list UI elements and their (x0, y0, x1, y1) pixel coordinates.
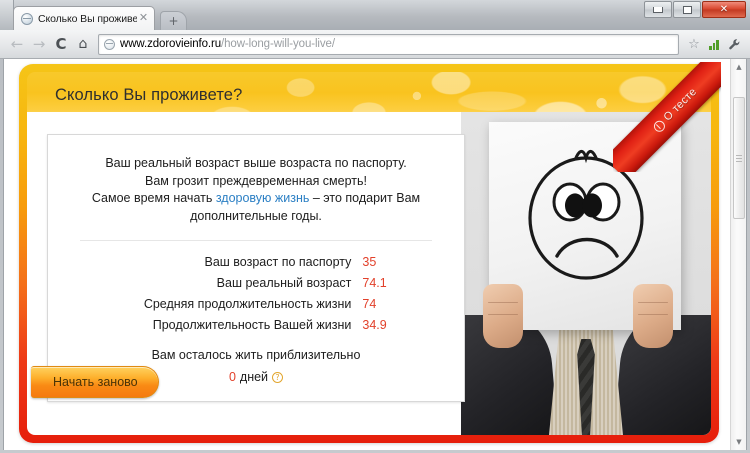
browser-toolbar: ← → C ⌂ www.zdorovieinfo.ru/how-long-wil… (0, 30, 750, 59)
right-hand (633, 284, 673, 348)
restart-button[interactable]: Начать заново (31, 366, 159, 398)
web-page: Сколько Вы проживете? (4, 59, 732, 450)
remaining-unit: дней (240, 370, 268, 384)
url-path: /how-long-will-you-live/ (221, 38, 335, 50)
maximize-button[interactable] (673, 1, 701, 18)
bookmark-star-button[interactable]: ☆ (684, 33, 704, 55)
browser-tab[interactable]: Сколько Вы проживете? ✕ (13, 6, 155, 30)
lead-line-3: Самое время начать здоровую жизнь – это … (66, 190, 446, 225)
lead-line-3-before: Самое время начать (92, 191, 216, 205)
scrollbar-thumb[interactable] (733, 97, 745, 219)
maximize-icon (683, 6, 692, 14)
close-window-button[interactable]: ✕ (702, 1, 746, 18)
forward-icon[interactable]: → (28, 33, 50, 55)
tabstrip-left-cap (0, 0, 14, 30)
url-domain: www.zdorovieinfo.ru (120, 38, 221, 50)
scroll-down-icon[interactable]: ▼ (731, 434, 747, 450)
close-icon: ✕ (720, 4, 728, 15)
wrench-icon (728, 38, 741, 51)
info-icon[interactable]: ? (272, 372, 283, 383)
site-globe-icon (104, 39, 115, 50)
url-text: www.zdorovieinfo.ru/how-long-will-you-li… (120, 38, 335, 50)
table-row: Продолжительность Вашей жизни 34.9 (66, 314, 446, 335)
reload-icon[interactable]: C (50, 33, 72, 55)
address-bar[interactable]: www.zdorovieinfo.ru/how-long-will-you-li… (98, 34, 679, 55)
result-value: 35 (362, 251, 446, 272)
back-icon[interactable]: ← (6, 33, 28, 55)
tab-strip: Сколько Вы проживете? ✕ + ✕ (0, 0, 750, 30)
extension-button[interactable] (704, 33, 724, 55)
lead-text: Ваш реальный возраст выше возраста по па… (66, 155, 446, 225)
page-frame: Сколько Вы проживете? (19, 64, 719, 443)
sad-face-icon (523, 136, 649, 288)
lead-line-1: Ваш реальный возраст выше возраста по па… (66, 155, 446, 173)
result-label: Средняя продолжительность жизни (66, 293, 362, 314)
scrollbar-grip (736, 155, 742, 162)
result-value: 34.9 (362, 314, 446, 335)
signal-bars-icon (709, 39, 719, 50)
healthy-life-link[interactable]: здоровую жизнь (216, 191, 310, 205)
new-tab-button[interactable]: + (160, 11, 187, 30)
results-card: Ваш реальный возраст выше возраста по па… (47, 134, 465, 402)
close-icon[interactable]: ✕ (137, 12, 150, 25)
browser-window: Сколько Вы проживете? ✕ + ✕ ← → C ⌂ www.… (0, 0, 750, 453)
page-viewport: Сколько Вы проживете? (3, 59, 747, 450)
window-controls: ✕ (644, 1, 746, 18)
minimize-icon (653, 7, 663, 13)
remaining-number: 0 (229, 370, 236, 384)
vertical-scrollbar[interactable]: ▲ ▼ (730, 59, 746, 450)
chrome-menu-button[interactable] (724, 33, 744, 55)
result-label: Продолжительность Вашей жизни (66, 314, 362, 335)
star-icon: ☆ (688, 37, 700, 52)
left-hand (483, 284, 523, 348)
result-value: 74.1 (362, 272, 446, 293)
divider (80, 240, 432, 241)
page-title: Сколько Вы проживете? (55, 86, 242, 105)
table-row: Ваш возраст по паспорту 35 (66, 251, 446, 272)
plus-icon: + (168, 15, 178, 27)
lead-line-2: Вам грозит преждевременная смерть! (66, 173, 446, 191)
tab-title: Сколько Вы проживете? (38, 13, 137, 25)
result-label: Ваш реальный возраст (66, 272, 362, 293)
remaining-label: Вам осталось жить приблизительно (66, 348, 446, 362)
photo-man-with-sad-face (461, 112, 711, 435)
results-table: Ваш возраст по паспорту 35 Ваш реальный … (66, 251, 446, 335)
minimize-button[interactable] (644, 1, 672, 18)
scroll-up-icon[interactable]: ▲ (731, 59, 747, 75)
home-icon[interactable]: ⌂ (72, 33, 94, 55)
table-row: Средняя продолжительность жизни 74 (66, 293, 446, 314)
result-label: Ваш возраст по паспорту (66, 251, 362, 272)
table-row: Ваш реальный возраст 74.1 (66, 272, 446, 293)
globe-icon (21, 13, 33, 25)
result-value: 74 (362, 293, 446, 314)
